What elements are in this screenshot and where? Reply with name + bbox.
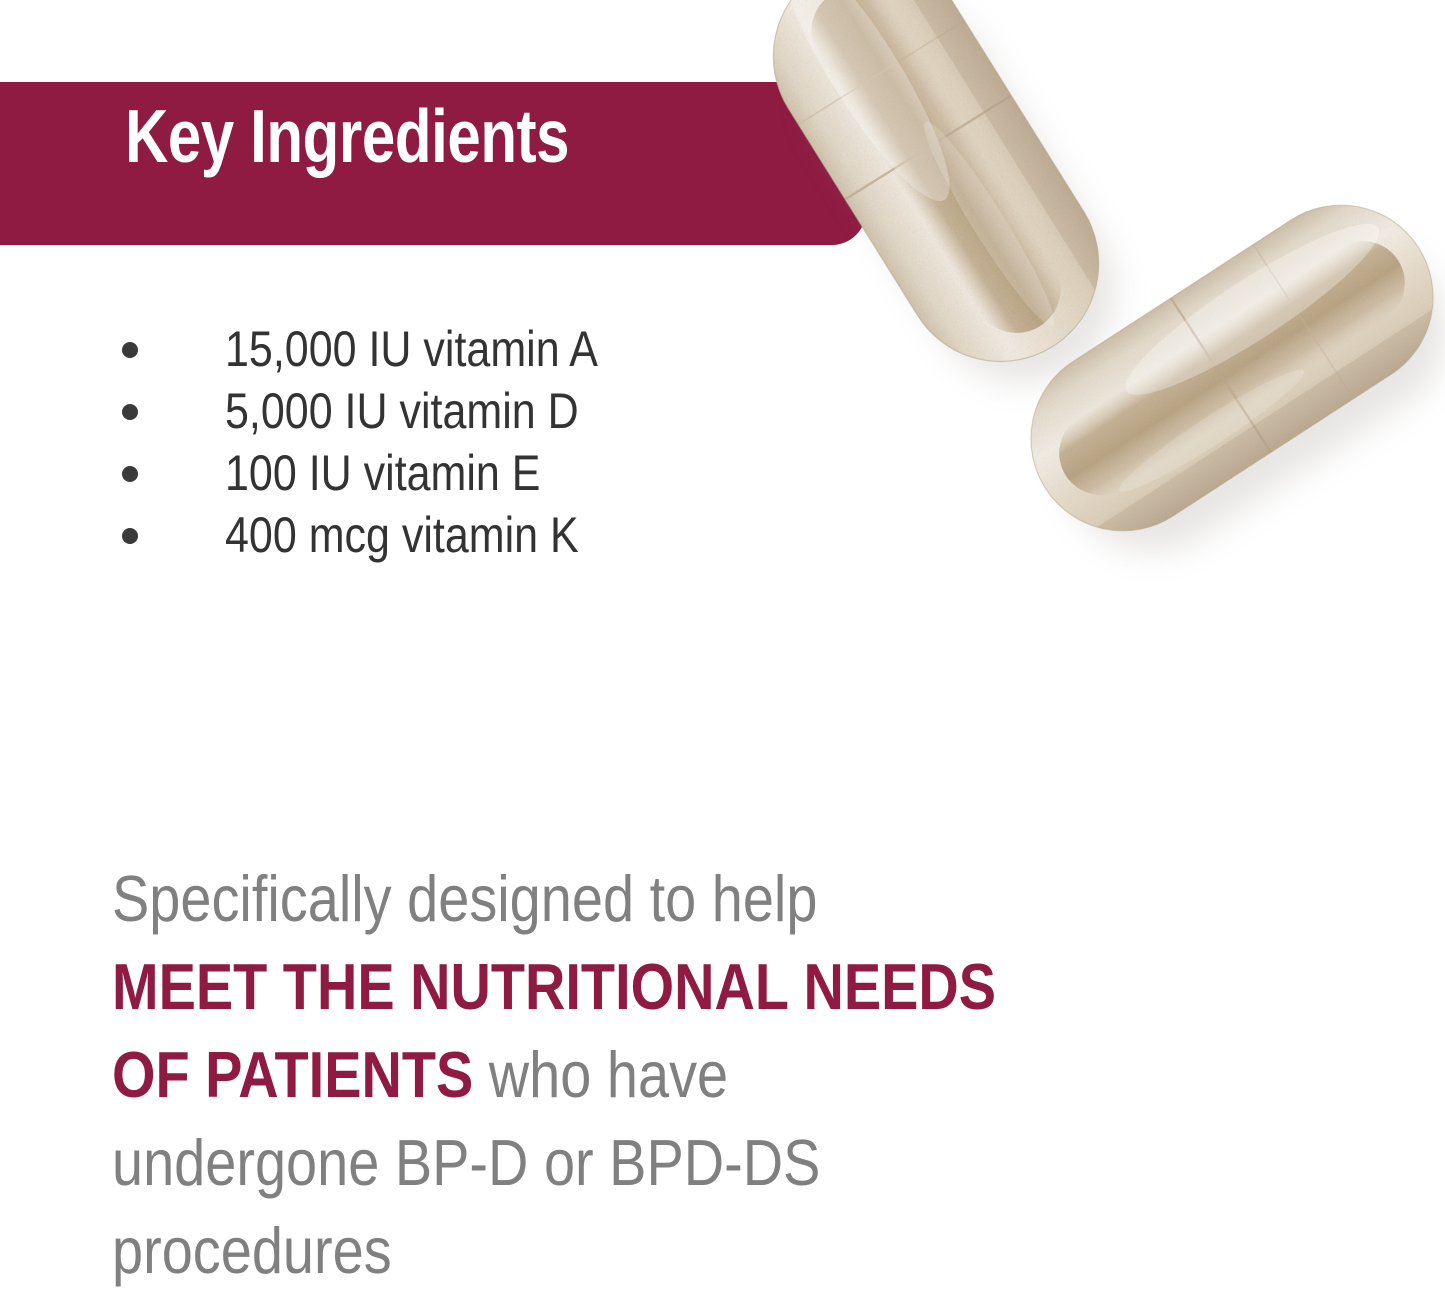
tagline-text: Specifically designed to help: [112, 862, 817, 935]
tagline-text: undergone BP-D or BPD-DS: [112, 1126, 820, 1199]
key-ingredients-list: 15,000 IU vitamin A 5,000 IU vitamin D 1…: [0, 318, 800, 566]
tagline-text: procedures: [112, 1214, 392, 1287]
list-item: 400 mcg vitamin K: [0, 504, 800, 566]
tagline-line: procedures: [112, 1207, 1178, 1295]
tagline-line: Specifically designed to help: [112, 855, 1178, 943]
list-item-label: 100 IU vitamin E: [225, 442, 540, 504]
list-item-label: 400 mcg vitamin K: [225, 504, 579, 566]
list-item: 100 IU vitamin E: [0, 442, 800, 504]
tagline-emphasis: OF PATIENTS: [112, 1038, 473, 1111]
tagline-line: undergone BP-D or BPD-DS: [112, 1119, 1178, 1207]
bullet-dot-icon: [122, 404, 138, 420]
tagline-emphasis: MEET THE NUTRITIONAL NEEDS: [112, 950, 996, 1023]
list-item: 15,000 IU vitamin A: [0, 318, 800, 380]
marketing-panel: Key Ingredients 15,000 IU vitamin A 5,00…: [0, 0, 1445, 1295]
tagline-line: MEET THE NUTRITIONAL NEEDS: [112, 943, 1178, 1031]
bullet-dot-icon: [122, 342, 138, 358]
list-item-label: 15,000 IU vitamin A: [225, 318, 598, 380]
tagline-text: who have: [473, 1038, 728, 1111]
capsule-shadow: [774, 0, 1445, 584]
list-item-label: 5,000 IU vitamin D: [225, 380, 579, 442]
tagline-block: Specifically designed to help MEET THE N…: [112, 855, 1352, 1295]
page-title: Key Ingredients: [125, 99, 569, 174]
bullet-dot-icon: [122, 528, 138, 544]
tagline-line: OF PATIENTS who have: [112, 1031, 1178, 1119]
capsule-2: [996, 170, 1445, 568]
list-item: 5,000 IU vitamin D: [0, 380, 800, 442]
bullet-dot-icon: [122, 466, 138, 482]
